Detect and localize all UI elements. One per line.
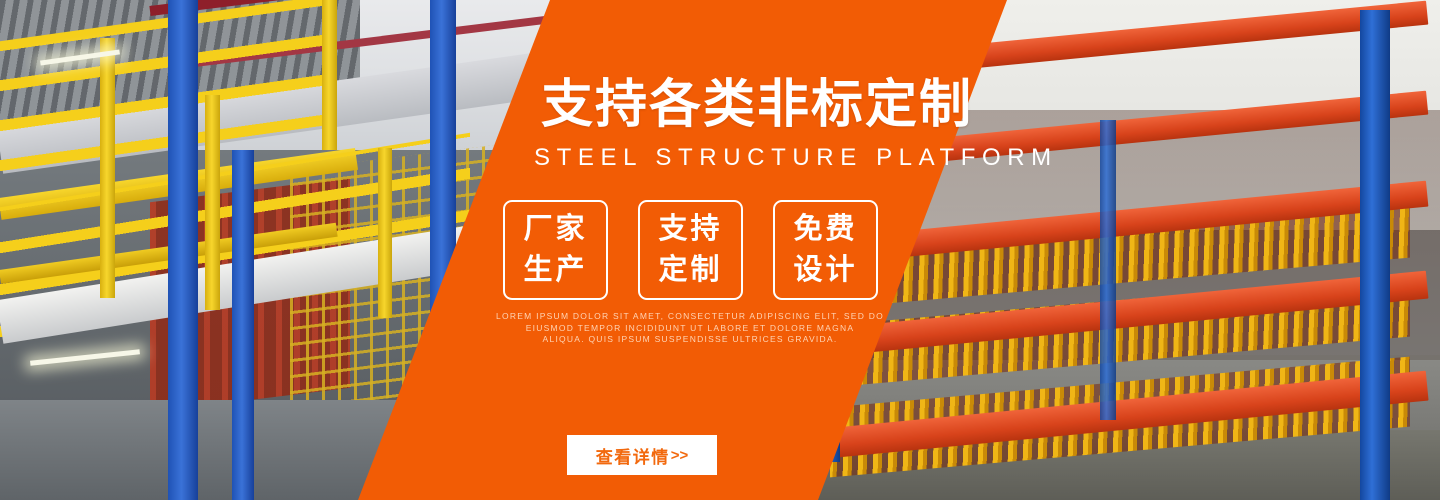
feature-box-list: 厂家 生产 支持 定制 免费 设计 [503,200,878,300]
feature-box-line1: 免费 [793,209,857,250]
feature-box-manufacturer[interactable]: 厂家 生产 [503,200,608,300]
view-details-button[interactable]: 查看详情 >> [567,435,717,475]
feature-box-free-design[interactable]: 免费 设计 [773,200,878,300]
feature-box-customization[interactable]: 支持 定制 [638,200,743,300]
feature-box-line1: 厂家 [523,209,587,250]
subtitle: STEEL STRUCTURE PLATFORM [534,144,1058,172]
feature-box-line2: 设计 [793,250,857,291]
chevron-right-icon: >> [671,447,689,464]
feature-box-line2: 定制 [658,250,722,291]
page-title: 支持各类非标定制 [541,76,973,134]
description-line-1: LOREM IPSUM DOLOR SIT AMET, CONSECTETUR … [470,311,910,323]
feature-box-line1: 支持 [658,209,722,250]
feature-box-line2: 生产 [523,250,587,291]
promo-banner: 支持各类非标定制 STEEL STRUCTURE PLATFORM 厂家 生产 … [0,0,1440,500]
banner-content: 支持各类非标定制 STEEL STRUCTURE PLATFORM 厂家 生产 … [0,0,1440,500]
description-text: LOREM IPSUM DOLOR SIT AMET, CONSECTETUR … [470,311,910,346]
description-line-2: EIUSMOD TEMPOR INCIDIDUNT UT LABORE ET D… [470,323,910,335]
description-line-3: ALIQUA. QUIS IPSUM SUSPENDISSE ULTRICES … [470,334,910,346]
view-details-label: 查看详情 [596,443,670,468]
